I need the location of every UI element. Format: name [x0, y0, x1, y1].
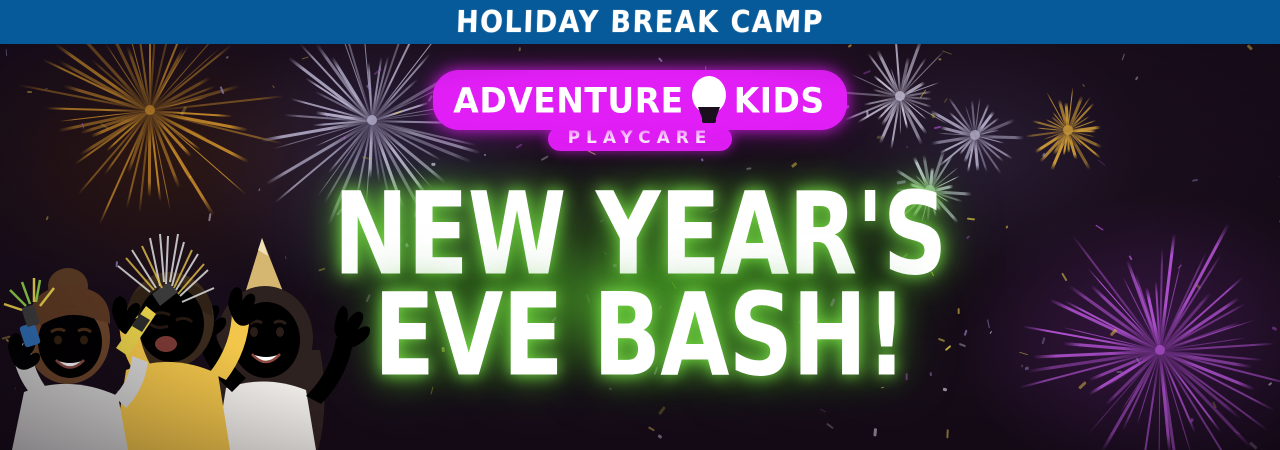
confetti-speck	[1191, 418, 1195, 423]
confetti-speck	[431, 163, 435, 166]
confetti-speck	[484, 154, 486, 156]
confetti-speck	[939, 59, 942, 61]
confetti-speck	[873, 428, 877, 437]
logo-word-adventure: ADVENTURE	[453, 83, 683, 118]
confetti-speck	[1247, 45, 1253, 51]
confetti-speck	[848, 44, 852, 47]
confetti-speck	[701, 158, 704, 161]
confetti-speck	[827, 423, 835, 429]
confetti-speck	[1097, 159, 1105, 165]
logo-word-kids: KIDS	[734, 83, 825, 118]
confetti-speck	[1212, 401, 1217, 408]
kids-celebrating-photo	[0, 220, 400, 450]
confetti-speck	[947, 429, 949, 438]
confetti-speck	[361, 156, 370, 160]
logo-badge: ADVENTURE KIDS	[433, 70, 846, 130]
brand-logo: ADVENTURE KIDS PLAYCARE	[0, 70, 1280, 151]
logo-subtitle: PLAYCARE	[568, 130, 713, 147]
confetti-speck	[658, 434, 663, 439]
confetti-speck	[5, 49, 6, 56]
holiday-break-camp-banner: HOLIDAY BREAK CAMP ADVENTURE KIDS PLAYCA…	[0, 0, 1280, 450]
confetti-speck	[1042, 153, 1045, 157]
confetti-speck	[519, 47, 521, 51]
confetti-speck	[648, 427, 655, 432]
lightbulb-icon	[686, 74, 732, 126]
topbar-title: HOLIDAY BREAK CAMP	[456, 5, 825, 40]
confetti-speck	[226, 55, 230, 58]
confetti-speck	[189, 175, 191, 177]
confetti-speck	[942, 50, 952, 55]
confetti-speck	[659, 57, 664, 62]
confetti-speck	[1191, 178, 1197, 181]
confetti-speck	[1234, 431, 1240, 435]
confetti-speck	[541, 155, 549, 161]
confetti-speck	[1122, 54, 1125, 61]
confetti-speck	[302, 56, 309, 59]
logo-subtitle-badge: PLAYCARE	[548, 127, 733, 151]
confetti-speck	[1249, 441, 1257, 449]
topbar: HOLIDAY BREAK CAMP	[0, 0, 1280, 44]
